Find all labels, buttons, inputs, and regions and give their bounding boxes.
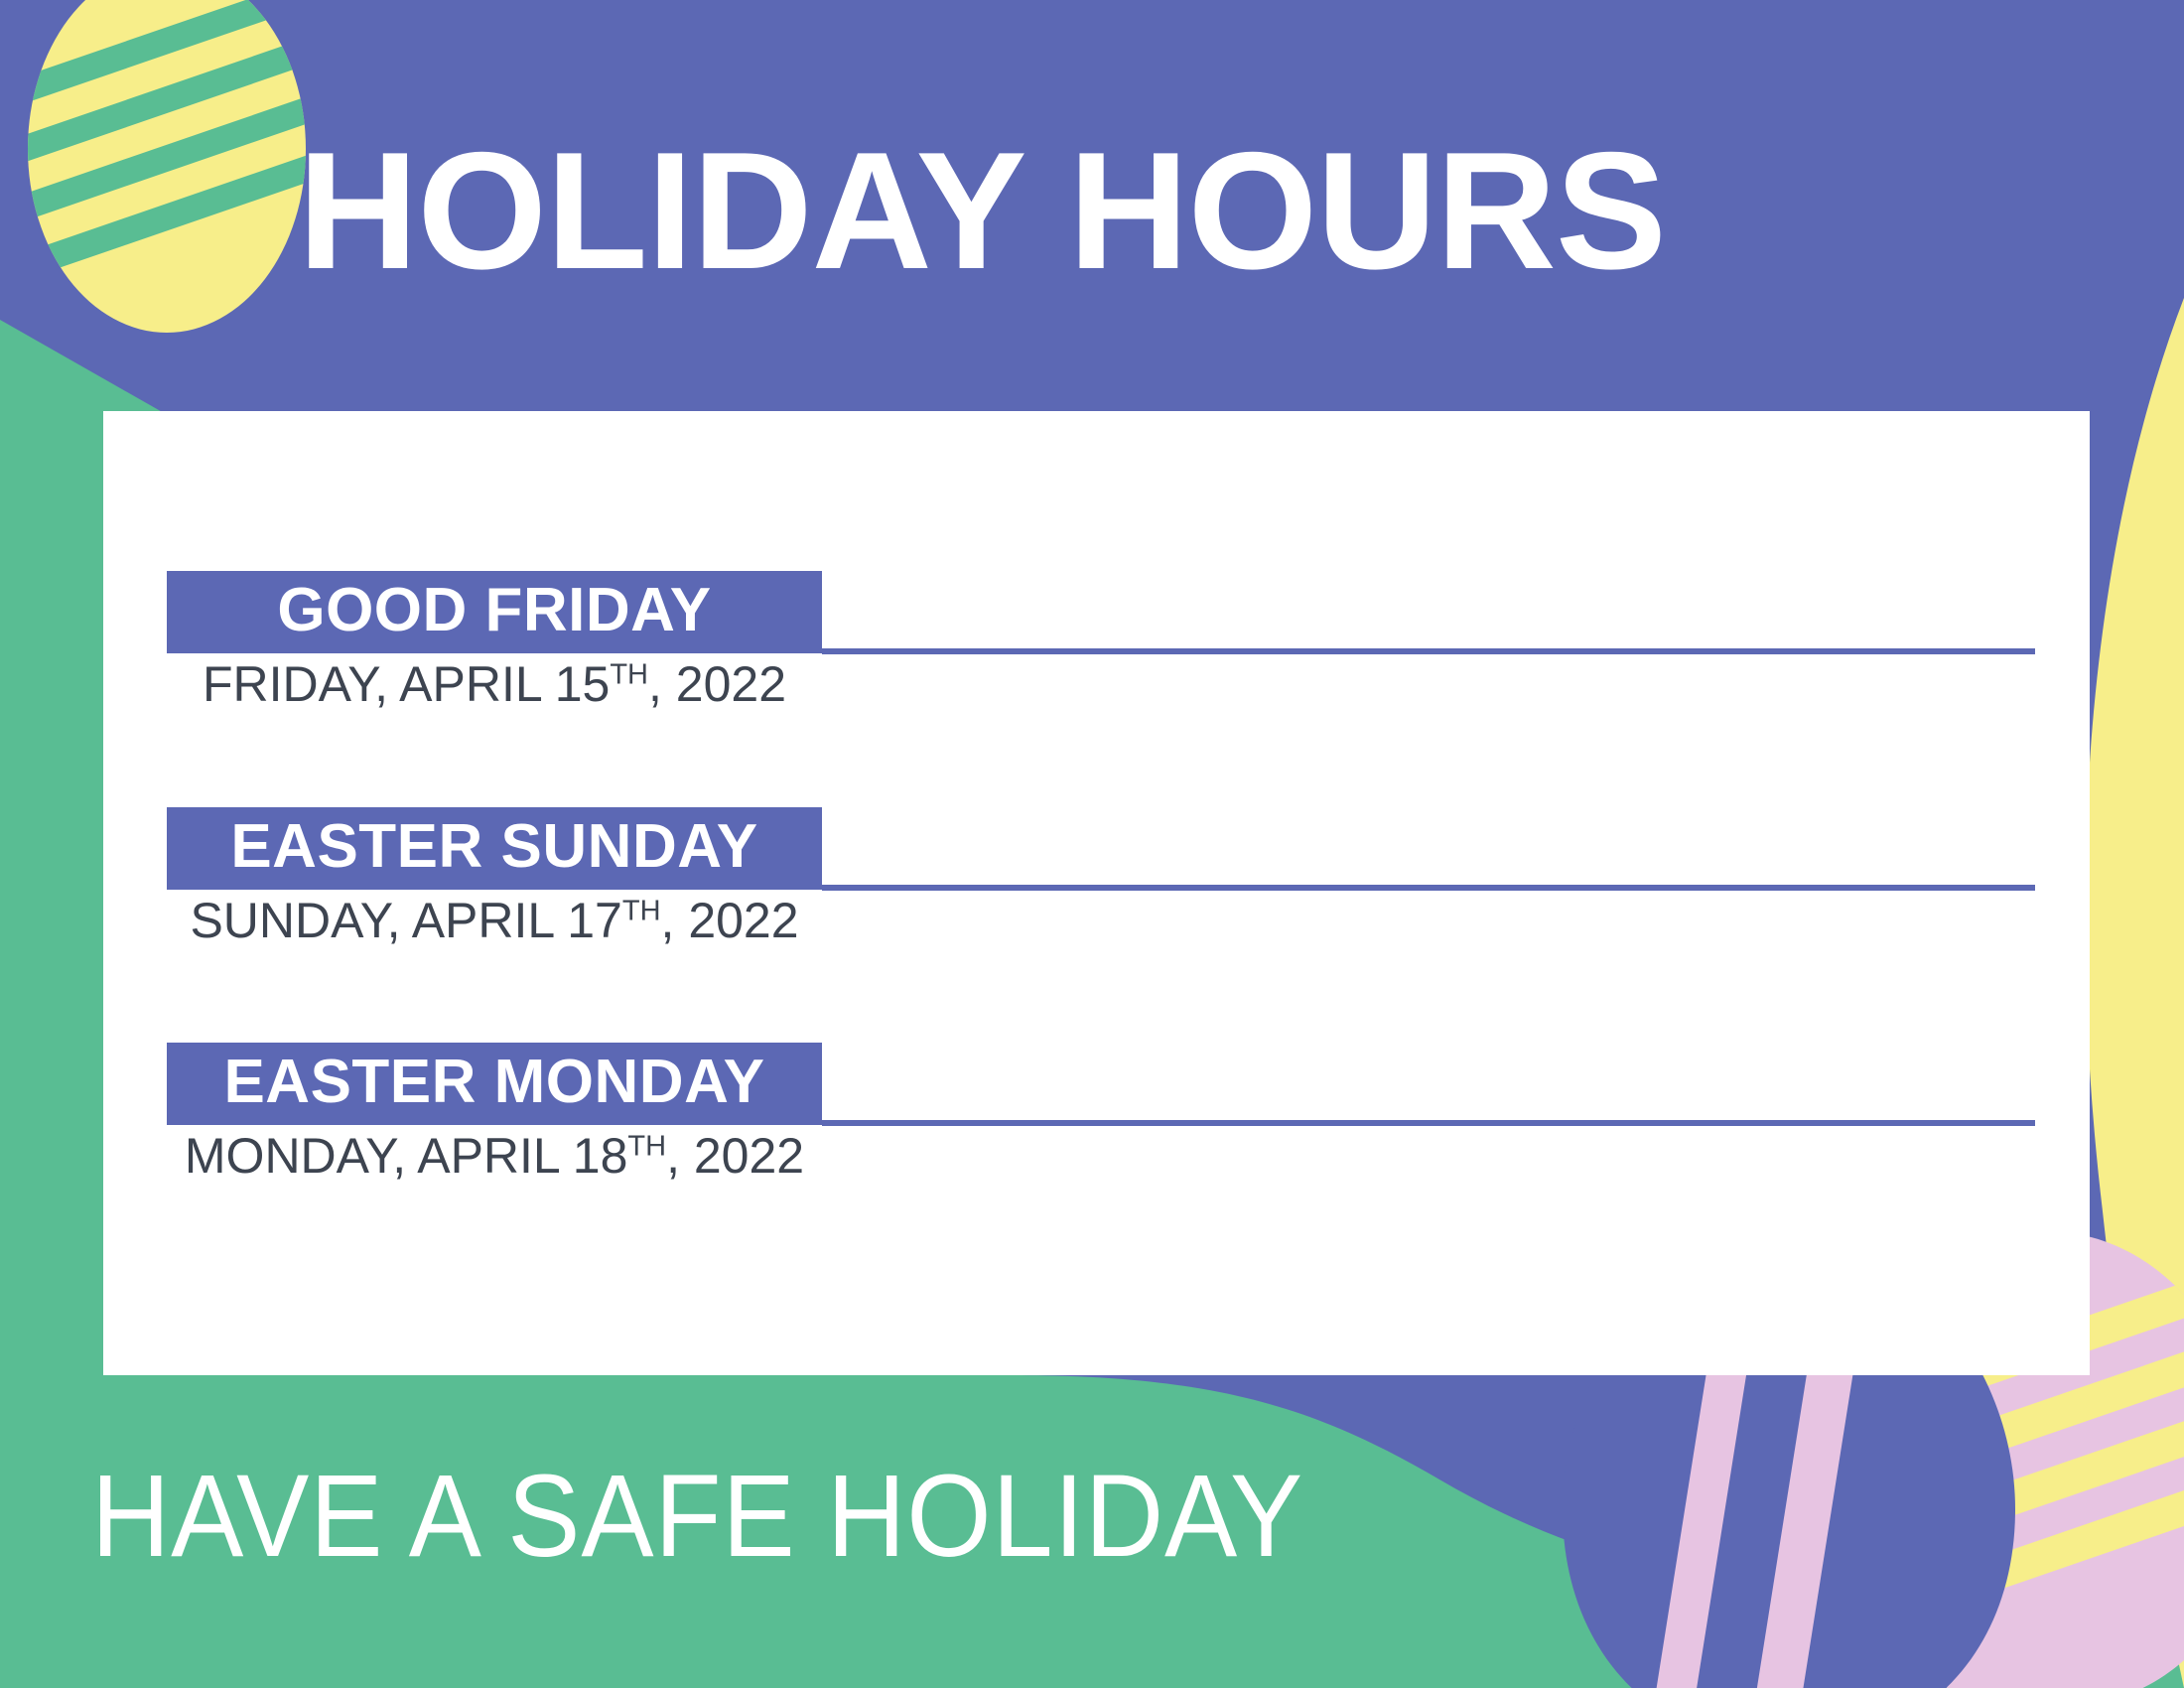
holiday-name-label: GOOD FRIDAY	[277, 580, 711, 641]
holiday-date-day: FRIDAY, APRIL 15	[203, 656, 610, 712]
footer-message: HAVE A SAFE HOLIDAY	[91, 1458, 1303, 1575]
holiday-date: FRIDAY, APRIL 15TH, 2022	[167, 656, 822, 712]
holiday-hours-rule	[822, 1120, 2035, 1126]
holiday-name-banner: EASTER SUNDAY	[167, 807, 822, 890]
holiday-date-year: , 2022	[666, 1128, 804, 1184]
holiday-date-ordinal: TH	[610, 658, 648, 690]
holiday-date: SUNDAY, APRIL 17TH, 2022	[167, 893, 822, 948]
holiday-name-banner: EASTER MONDAY	[167, 1043, 822, 1125]
holiday-hours-rule	[822, 648, 2035, 654]
holiday-date-ordinal: TH	[627, 1130, 666, 1162]
holiday-date-year: , 2022	[648, 656, 786, 712]
holiday-date-day: MONDAY, APRIL 18	[185, 1128, 627, 1184]
holiday-name-banner: GOOD FRIDAY	[167, 571, 822, 653]
holiday-name-label: EASTER MONDAY	[223, 1052, 764, 1113]
holiday-date-year: , 2022	[661, 893, 799, 948]
holiday-date: MONDAY, APRIL 18TH, 2022	[167, 1128, 822, 1184]
page-title: HOLIDAY HOURS	[298, 127, 1666, 294]
holiday-hours-poster: HOLIDAY HOURS GOOD FRIDAY FRIDAY, APRIL …	[0, 0, 2184, 1688]
holiday-date-day: SUNDAY, APRIL 17	[190, 893, 621, 948]
holiday-date-ordinal: TH	[622, 895, 661, 926]
holiday-hours-rule	[822, 885, 2035, 891]
holiday-name-label: EASTER SUNDAY	[230, 816, 757, 878]
